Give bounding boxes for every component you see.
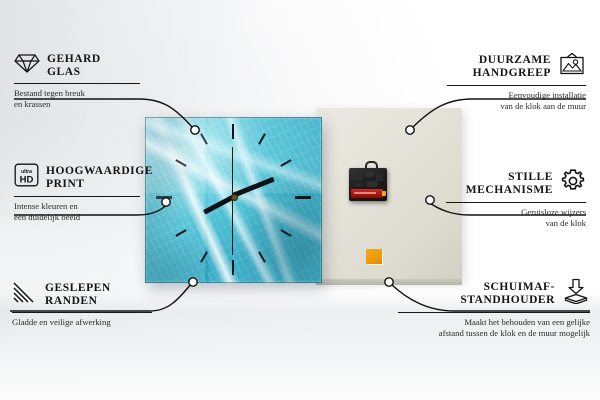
movement-detail [376,173,383,181]
feature-divider [12,312,152,313]
feature-divider [398,312,590,313]
feature-title-line1: GEHARD [47,53,101,66]
feature-desc-line2: van de klok aan de muur [446,101,586,112]
tick-9 [156,196,172,199]
clock-hub [231,194,238,201]
diamond-icon [14,52,40,79]
picture-frame-hanger-icon [558,52,586,81]
movement-detail [367,181,378,187]
feature-title-line2: GLAS [47,66,101,79]
feature-divider [446,202,586,203]
foam-spacer-icon [562,278,590,309]
feature-title-line1: DUURZAME [473,54,551,67]
glass-clock-face [145,117,322,283]
feature-desc-line1: Intense kleuren en [14,201,142,212]
svg-text:HD: HD [20,175,34,186]
feature-desc-line2: een duidelijk beeld [14,212,142,223]
battery-label-stripe [354,192,376,194]
foam-spacer-pad [366,249,382,264]
movement-detail [354,182,363,187]
infographic-canvas: GEHARD GLAS Bestand tegen breuk en krass… [0,0,600,400]
feature-title-line2: RANDEN [45,295,111,308]
feature-title-line1: STILLE [466,171,553,184]
feature-title-line1: SCHUIMAF- [460,281,555,294]
feature-title-line2: MECHANISME [466,184,553,197]
feature-title-line1: HOOGWAARDIGE [46,165,153,178]
feature-schuimafstandhouder[interactable]: SCHUIMAF- STANDHOUDER Maakt het behouden… [398,278,590,338]
feature-desc-line1: Geruisloze wijzers [446,207,586,218]
feature-desc-line1: Gladde en veilige afwerking [12,317,154,328]
feature-desc-line1: Eenvoudige installatie [446,90,586,101]
feature-stille-mechanisme[interactable]: STILLE MECHANISME Geruisloze wijzers van… [446,168,586,228]
clock-back-panel [316,108,462,280]
feature-desc-line1: Maakt het behouden van een gelijke [398,317,590,328]
beveled-edges-icon [12,281,38,308]
tick-3 [295,196,311,199]
feature-divider [14,196,140,197]
movement-detail [353,173,363,180]
feature-title-line2: PRINT [46,178,153,191]
feature-geslepen-randen[interactable]: GESLEPEN RANDEN Gladde en veilige afwerk… [12,281,154,328]
feature-duurzame-handgreep[interactable]: DUURZAME HANDGREEP Eenvoudige installati… [446,52,586,111]
feature-divider [14,83,140,84]
feature-desc-line1: Bestand tegen breuk [14,88,142,99]
feature-title-line2: STANDHOUDER [460,294,555,307]
feature-desc-line2: afstand tussen de klok en de muur mogeli… [398,328,590,339]
movement-detail [366,172,374,177]
feature-title-line1: GESLEPEN [45,282,111,295]
feature-desc-line2: en krassen [14,99,142,110]
feature-hoogwaardige-print[interactable]: ultra HD HOOGWAARDIGE PRINT Intense kleu… [14,163,142,222]
gear-icon [560,168,586,199]
feature-desc-line2: van de klok [446,218,586,229]
feature-title-line2: HANDGREEP [473,67,551,80]
tick-6 [232,260,234,275]
feature-gehard-glas[interactable]: GEHARD GLAS Bestand tegen breuk en krass… [14,52,142,109]
tick-12 [232,124,234,139]
feature-divider [447,85,586,86]
ultra-hd-icon: ultra HD [14,163,39,192]
